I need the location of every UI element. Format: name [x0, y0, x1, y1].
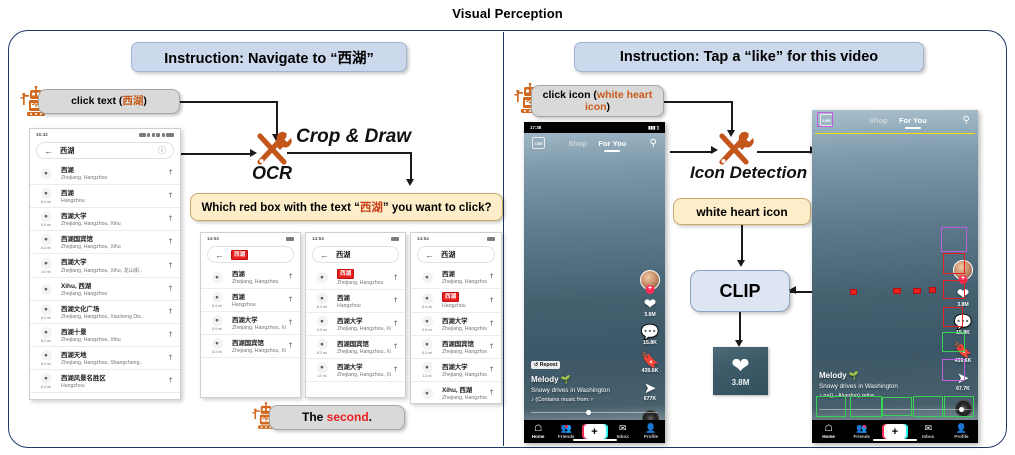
result-pin: ●8.3 mi	[312, 339, 332, 355]
result-distance: 8.3 mi	[422, 351, 432, 355]
map-phone-candidate-3[interactable]: 14:54←西湖●西湖Zhejiang, Hangzhou↗●8.4 mi西湖H…	[410, 232, 502, 404]
rail-count: 439.6K	[955, 358, 972, 364]
status-bar: 14:54	[201, 233, 300, 244]
map-search-input[interactable]: 西湖	[336, 250, 391, 260]
result-title: 西湖	[442, 292, 487, 302]
location-pin-icon: ●	[41, 234, 52, 245]
result-subtitle: Zhejiang, Hangzhou, Xihu, 龙山街..	[61, 267, 166, 274]
status-icons	[487, 237, 495, 241]
map-result-row[interactable]: ●13 mi西湖大学Zhejiang, Hangzhou, Xihu,↗	[411, 359, 501, 382]
avatar[interactable]: +	[640, 270, 660, 290]
username[interactable]: Melody 🌱	[819, 371, 950, 380]
result-subtitle: Zhejiang, Hangzhou	[232, 279, 286, 285]
heart-icon[interactable]: ❤	[957, 287, 970, 302]
map-result-row[interactable]: ●8.2 mi西湖十景Zhejiang, Hangzhou, Xihu↗	[30, 324, 180, 347]
location-pin-icon: ●	[41, 258, 52, 269]
result-pin: ●	[417, 388, 437, 399]
live-icon[interactable]: LIVE	[532, 137, 545, 149]
location-pin-icon: ●	[317, 362, 328, 373]
result-subtitle: Zhejiang, Hangzhou, Xihu	[442, 349, 487, 355]
progress-knob[interactable]	[959, 407, 964, 412]
location-pin-icon: ●	[41, 304, 52, 315]
plus-icon[interactable]: +	[882, 424, 908, 439]
rail-heart[interactable]: ❤3.6M	[644, 297, 657, 318]
figure-root: Visual Perception Instruction: Navigate …	[0, 0, 1015, 455]
navigate-arrow-icon[interactable]: ↗	[389, 341, 400, 352]
tab-for-you[interactable]: For You	[598, 139, 626, 148]
status-bar: 14:54	[306, 233, 405, 244]
comment-icon[interactable]: 💬	[641, 325, 660, 340]
map-result-row[interactable]: ●8.4 mi西湖Hangzhou↗	[411, 289, 501, 313]
detect-line-divider	[815, 133, 975, 135]
map-result-row[interactable]: ●0.9 mi西湖大学Zhejiang, Hangzhou, Xih↗	[201, 312, 300, 335]
map-result-row[interactable]: ●8.4 mi西湖Hangzhou↗	[30, 185, 180, 208]
detect-box-avatar	[941, 227, 967, 252]
result-distance: 0.9 mi	[41, 223, 51, 227]
arrow-head	[789, 286, 796, 294]
rail-count: 67.7K	[956, 386, 970, 392]
result-title: 西湖	[232, 292, 286, 301]
map-search-input[interactable]: 西湖	[60, 146, 158, 156]
map-result-row[interactable]: ●西湖Zhejiang, Hangzhou↗	[306, 266, 405, 290]
map-result-row[interactable]: ●西湖Zhejiang, Hangzhou↗	[201, 266, 300, 289]
status-bar: 14:54	[411, 233, 501, 244]
location-pin-icon: ●	[422, 272, 433, 283]
navigate-arrow-icon[interactable]: ↗	[485, 341, 496, 352]
result-pin: ●0.9 mi	[312, 316, 332, 332]
rail-count: 3.8M	[957, 302, 969, 308]
navigate-arrow-icon[interactable]: ↗	[485, 364, 496, 375]
follow-plus-icon[interactable]: +	[646, 285, 655, 294]
status-time: 14:54	[417, 236, 429, 241]
result-distance: 0.9 mi	[422, 328, 432, 332]
result-pin: ●13 mi	[417, 362, 437, 378]
music-label[interactable]: ♪ (Contains music from: r	[531, 397, 637, 403]
right-agent-action-chip: click icon (white heart icon)	[531, 85, 664, 117]
ocr-question-chip: Which red box with the text “西湖” you wan…	[190, 193, 503, 221]
rail-comment[interactable]: 💬15.8K	[954, 315, 973, 336]
result-distance: 0.9 mi	[317, 328, 327, 332]
status-icons	[286, 237, 294, 241]
left-agent-action-chip: click text (西湖)	[38, 89, 180, 114]
status-time: 17:38	[530, 125, 541, 130]
arrow-left-icon[interactable]: ←	[215, 250, 224, 260]
result-pin: ●13 mi	[36, 258, 56, 274]
nav-label: Inbox	[617, 434, 629, 439]
follow-plus-icon[interactable]: +	[959, 275, 968, 284]
map-result-row[interactable]: ●8.3 mi西湖国宾馆Zhejiang, Hangzhou, Xih↗	[201, 335, 300, 358]
status-time: 14:54	[312, 236, 324, 241]
tiktok-phone-after[interactable]: LIVEShopFor You⚲+❤3.8M💬15.8K🔖439.6K➤67.7…	[812, 110, 978, 443]
map-phone-candidate-1[interactable]: 14:54←西湖●西湖Zhejiang, Hangzhou↗●8.4 mi西湖H…	[200, 232, 301, 398]
result-pin: ●8.9 mi	[36, 350, 56, 366]
tiktok-tabs: ShopFor You	[545, 139, 650, 148]
result-subtitle: Zhejiang, Hangzhou, Xih	[232, 348, 286, 354]
arrow-line	[741, 225, 743, 261]
left-agent-action-text: click text (西湖)	[71, 95, 147, 107]
location-pin-icon: ●	[317, 316, 328, 327]
right-instruction-text: Instruction: Tap a “like” for this video	[620, 49, 878, 65]
navigate-arrow-icon[interactable]: ↗	[284, 294, 295, 305]
navigate-arrow-icon[interactable]: ↗	[164, 236, 175, 247]
result-subtitle: Hangzhou	[442, 303, 487, 309]
share-icon[interactable]: ➤	[957, 371, 970, 386]
location-pin-icon: ●	[422, 388, 433, 399]
tiktok-action-rail: +❤3.8M💬15.8K🔖439.6K➤67.7K	[953, 260, 973, 417]
map-result-row[interactable]: ●8.3 mi西湖国宾馆Zhejiang, Hangzhou, Xihu↗	[30, 231, 180, 254]
nav-label: Inbox	[922, 434, 934, 439]
result-subtitle: Zhejiang, Hangzhou	[61, 291, 166, 297]
map-result-row[interactable]: ●0.9 mi西湖大学Zhejiang, Hangzhou, Xihu↗	[30, 208, 180, 231]
map-result-row[interactable]: ●13 mi西湖大学Zhejiang, Hangzhou, Xihu,↗	[306, 359, 405, 382]
location-pin-icon: ●	[212, 272, 223, 283]
result-pin: ●	[207, 272, 227, 283]
detect-marker-2	[893, 288, 901, 294]
location-pin-icon: ●	[212, 315, 223, 326]
result-subtitle: Zhejiang, Hangzhou, Xiacheng Dis..	[61, 314, 166, 320]
nav-create[interactable]: +	[878, 424, 911, 439]
navigate-arrow-icon[interactable]: ↗	[485, 295, 496, 306]
result-title: 西湖国宾馆	[337, 339, 391, 348]
detect-box-create	[882, 397, 912, 416]
result-subtitle: Zhejiang, Hangzhou, Xihu	[337, 326, 391, 332]
bookmark-icon[interactable]: 🔖	[641, 353, 660, 368]
location-pin-icon: ●	[422, 339, 433, 350]
video-progress-bar[interactable]	[531, 412, 658, 414]
result-subtitle: Hangzhou	[61, 198, 166, 204]
map-result-row[interactable]: ●8.9 mi西湖天地Zhejiang, Hangzhou, Shangchen…	[30, 347, 180, 370]
tiktok-caption: Melody 🌱Snowy drives in Washington♪ na()…	[819, 367, 950, 399]
detect-box-friends	[850, 396, 882, 417]
profile-icon[interactable]: 👤	[645, 424, 656, 433]
left-instruction-text: Instruction: Navigate to “西湖”	[164, 47, 373, 68]
navigate-arrow-icon[interactable]: ↗	[164, 283, 175, 294]
tiktok-top-bar: LIVEShopFor You⚲	[812, 112, 978, 128]
heart-crop-image: ❤ 3.8M	[713, 347, 768, 395]
tab-for-you[interactable]: For You	[899, 116, 927, 125]
result-distance: 13 mi	[41, 270, 50, 274]
navigate-arrow-icon[interactable]: ↗	[164, 306, 175, 317]
share-icon[interactable]: ➤	[644, 381, 657, 396]
map-result-row[interactable]: ●13 mi西湖大学Zhejiang, Hangzhou, Xihu, 龙山街.…	[30, 254, 180, 278]
detect-marker-3	[913, 288, 921, 294]
detect-box-home	[816, 396, 846, 417]
navigate-arrow-icon[interactable]: ↗	[485, 318, 496, 329]
result-title: 西湖国宾馆	[61, 234, 166, 243]
arrow-head	[406, 179, 414, 186]
map-result-row[interactable]: ●8.3 mi西湖国宾馆Zhejiang, Hangzhou, Xihu↗	[411, 336, 501, 359]
location-pin-icon: ●	[212, 338, 223, 349]
answer-text: The second.	[302, 411, 372, 425]
heart-count: 3.8M	[732, 378, 750, 387]
nav-inbox[interactable]: ✉Inbox	[912, 424, 945, 440]
video-description: Snowy drives in Washington	[819, 383, 950, 390]
rail-heart[interactable]: ❤3.8M	[957, 287, 970, 308]
result-pin: ●8.4 mi	[207, 292, 227, 308]
status-time: 14:54	[207, 236, 219, 241]
heart-icon[interactable]: ❤	[644, 297, 657, 312]
location-pin-icon: ●	[41, 284, 52, 295]
tiktok-phone-before[interactable]: 17:38▮▮▮ ▯LIVEShopFor You⚲+❤3.6M💬15.8K🔖4…	[524, 122, 665, 443]
arrow-line	[757, 151, 811, 153]
status-icons: ▮▮▮ ▯	[648, 125, 659, 131]
result-subtitle: Hangzhou	[232, 302, 286, 308]
page-title: Visual Perception	[0, 6, 1015, 21]
left-tool-top-label: Crop & Draw	[296, 126, 411, 148]
search-icon[interactable]: ⚲	[963, 115, 970, 126]
map-result-row[interactable]: ●8.4 mi西湖风景名胜区Hangzhou↗	[30, 370, 180, 393]
rail-count: 439.6K	[642, 368, 659, 374]
tiktok-tabs: ShopFor You	[833, 116, 963, 125]
home-icon[interactable]: ☖	[534, 424, 542, 433]
nav-home[interactable]: ☖Home	[524, 424, 552, 440]
clear-circle-icon[interactable]: ⓘ	[158, 145, 166, 156]
right-instruction-chip: Instruction: Tap a “like” for this video	[574, 42, 924, 72]
map-result-row[interactable]: ●Xihu, 西湖Zhejiang, Hangzhou↗	[30, 278, 180, 301]
result-pin: ●0.9 mi	[417, 316, 437, 332]
plus-icon[interactable]: +	[582, 424, 608, 439]
map-result-row[interactable]: ●8.4 mi西湖Hangzhou↗	[306, 290, 405, 313]
result-distance: 13 mi	[422, 374, 431, 378]
progress-knob[interactable]	[586, 410, 591, 415]
result-distance: 8.4 mi	[41, 385, 51, 389]
detected-label-chip: white heart icon	[673, 198, 811, 225]
navigate-arrow-icon[interactable]: ↗	[485, 387, 496, 398]
result-subtitle: Zhejiang, Hangzhou, Shangcheng..	[61, 360, 166, 366]
result-pin: ●8.2 mi	[36, 327, 56, 343]
rail-share[interactable]: ➤677K	[644, 381, 657, 402]
rail-count: 3.6M	[644, 312, 656, 318]
left-tool-bottom-label: OCR	[252, 163, 292, 184]
location-pin-icon: ●	[41, 168, 52, 179]
map-search-bar[interactable]: ←西湖	[417, 246, 495, 263]
result-distance: 8.9 mi	[41, 362, 51, 366]
rail-count: 15.8K	[643, 340, 657, 346]
rail-bookmark[interactable]: 🔖439.6K	[641, 353, 660, 374]
map-result-row[interactable]: ●8.2 mi西湖文化广场Zhejiang, Hangzhou, Xiachen…	[30, 301, 180, 324]
arrow-left-icon[interactable]: ←	[320, 250, 329, 260]
clip-label: CLIP	[719, 281, 760, 302]
result-distance: 8.3 mi	[317, 351, 327, 355]
map-result-row[interactable]: ●Xihu, 西湖Zhejiang, Hangzhou↗	[411, 382, 501, 404]
navigate-arrow-icon[interactable]: ↗	[284, 317, 295, 328]
result-title: Xihu, 西湖	[61, 281, 166, 290]
heart-icon: ❤	[731, 355, 749, 377]
result-pin: ●8.4 mi	[312, 293, 332, 309]
status-time: 15:42	[36, 132, 48, 137]
result-title: 西湖大学	[442, 362, 487, 371]
tiktok-caption: ↺ RepostMelody 🌱Snowy drives in Washingt…	[531, 353, 637, 403]
video-progress-bar[interactable]	[819, 409, 971, 411]
inbox-icon[interactable]: ✉	[619, 424, 627, 433]
result-subtitle: Zhejiang, Hangzhou, Xihu	[337, 349, 391, 355]
result-distance: 8.4 mi	[317, 305, 327, 309]
panel-divider	[503, 32, 504, 446]
navigate-arrow-icon[interactable]: ↗	[389, 364, 400, 375]
result-subtitle: Zhejiang, Hangzhou	[61, 175, 166, 181]
map-result-row[interactable]: ●0.9 mi西湖大学Zhejiang, Hangzhou, Xihu↗	[306, 313, 405, 336]
location-pin-icon: ●	[422, 293, 433, 304]
navigate-arrow-icon[interactable]: ↗	[164, 375, 175, 386]
map-result-row[interactable]: ●8.4 mi西湖Hangzhou↗	[201, 289, 300, 312]
result-subtitle: Zhejiang, Hangzhou, Xihu,	[442, 372, 487, 378]
rail-comment[interactable]: 💬15.8K	[641, 325, 660, 346]
ocr-question-text: Which red box with the text “西湖” you wan…	[201, 199, 491, 215]
map-search-input[interactable]: 西湖	[441, 250, 487, 260]
result-subtitle: Hangzhou	[61, 383, 166, 389]
result-subtitle: Zhejiang, Hangzhou, Xihu	[61, 221, 166, 227]
location-pin-icon: ●	[41, 350, 52, 361]
result-subtitle: Zhejiang, Hangzhou, Xihu	[442, 326, 487, 332]
map-search-bar[interactable]: ←西湖	[312, 246, 399, 263]
clip-box: CLIP	[690, 270, 790, 312]
navigate-arrow-icon[interactable]: ↗	[485, 271, 496, 282]
map-result-row[interactable]: ●8.3 mi西湖国宾馆Zhejiang, Hangzhou, Xihu↗	[306, 336, 405, 359]
tab-shop[interactable]: Shop	[568, 139, 587, 148]
result-title: 西湖大学	[232, 315, 286, 324]
arrow-left-icon[interactable]: ←	[425, 250, 434, 260]
result-title: 西湖	[337, 269, 391, 279]
arrow-left-icon[interactable]: ←	[44, 146, 53, 156]
detected-label-text: white heart icon	[696, 205, 787, 219]
navigate-arrow-icon[interactable]: ↗	[389, 295, 400, 306]
result-distance: 13 mi	[317, 374, 326, 378]
map-result-row[interactable]: ●0.9 mi西湖大学Zhejiang, Hangzhou, Xihu↗	[411, 313, 501, 336]
result-distance: 8.3 mi	[41, 246, 51, 250]
repost-badge[interactable]: ↺ Repost	[531, 361, 560, 369]
result-subtitle: Zhejiang, Hangzhou	[442, 279, 487, 285]
map-result-list: ●西湖Zhejiang, Hangzhou↗●8.4 mi西湖Hangzhou↗…	[30, 162, 180, 393]
username[interactable]: Melody 🌱	[531, 375, 637, 384]
live-icon[interactable]: LIVE	[820, 114, 833, 126]
result-pin: ●	[417, 272, 437, 283]
location-pin-icon: ●	[317, 293, 328, 304]
nav-friends[interactable]: 👥Friends	[845, 424, 878, 440]
result-title: 西湖	[337, 293, 391, 302]
video-description: Snowy drives in Washington	[531, 387, 637, 394]
result-pin: ●8.3 mi	[36, 234, 56, 250]
tab-shop[interactable]: Shop	[869, 116, 888, 125]
result-subtitle: Zhejiang, Hangzhou, Xihu	[61, 337, 166, 343]
location-pin-icon: ●	[422, 316, 433, 327]
navigate-arrow-icon[interactable]: ↗	[164, 167, 175, 178]
map-search-input[interactable]: 西湖	[231, 249, 286, 260]
result-title: 西湖大学	[337, 316, 391, 325]
location-pin-icon: ●	[422, 362, 433, 373]
left-instruction-chip: Instruction: Navigate to “西湖”	[131, 42, 407, 72]
result-subtitle: Zhejiang, Hangzhou	[442, 395, 487, 401]
navigate-arrow-icon[interactable]: ↗	[389, 272, 400, 283]
tiktok-top-bar: LIVEShopFor You⚲	[524, 135, 665, 151]
result-distance: 8.3 mi	[212, 350, 222, 354]
arrow-line	[287, 152, 411, 154]
result-distance: 8.4 mi	[41, 200, 51, 204]
map-result-row[interactable]: ●西湖Zhejiang, Hangzhou↗	[411, 266, 501, 289]
location-pin-icon: ●	[317, 272, 328, 283]
nav-inbox[interactable]: ✉Inbox	[609, 424, 637, 440]
map-search-bar[interactable]: ←西湖	[207, 246, 294, 263]
result-title: 西湖大学	[442, 316, 487, 325]
status-bar: 15:42	[30, 129, 180, 140]
search-icon[interactable]: ⚲	[650, 138, 657, 149]
navigate-arrow-icon[interactable]: ↗	[164, 213, 175, 224]
result-title: 西湖大学	[337, 362, 391, 371]
nav-profile[interactable]: 👤Profile	[945, 424, 978, 440]
nav-home[interactable]: ☖Home	[812, 424, 845, 440]
result-distance: 8.2 mi	[41, 316, 51, 320]
result-pin: ●13 mi	[312, 362, 332, 378]
right-tool-label: Icon Detection	[690, 163, 807, 183]
nav-friends[interactable]: 👥Friends	[552, 424, 580, 440]
map-result-row[interactable]: ●西湖Zhejiang, Hangzhou↗	[30, 162, 180, 185]
result-subtitle: Zhejiang, Hangzhou, Xih	[232, 325, 286, 331]
map-phone-candidate-2[interactable]: 14:54←西湖●西湖Zhejiang, Hangzhou↗●8.4 mi西湖H…	[305, 232, 406, 398]
navigate-arrow-icon[interactable]: ↗	[284, 340, 295, 351]
result-title: 西湖十景	[61, 327, 166, 336]
result-title: 西湖文化广场	[61, 304, 166, 313]
status-bar: 17:38▮▮▮ ▯	[524, 122, 665, 133]
result-subtitle: Hangzhou	[337, 303, 391, 309]
result-title: 西湖	[232, 269, 286, 278]
home-icon[interactable]: ☖	[825, 424, 833, 433]
result-pin: ●8.2 mi	[36, 304, 56, 320]
rail-share[interactable]: ➤67.7K	[956, 371, 970, 392]
bookmark-icon[interactable]: 🔖	[954, 343, 973, 358]
result-title: 西湖	[61, 165, 166, 174]
detect-marker-4	[929, 287, 936, 293]
rail-bookmark[interactable]: 🔖439.6K	[954, 343, 973, 364]
detect-box-inbox	[913, 396, 943, 417]
map-search-bar[interactable]: ← 西湖 ⓘ	[36, 142, 174, 159]
nav-label: Profile	[644, 434, 658, 439]
answer-chip: The second.	[269, 405, 405, 430]
status-icons	[139, 133, 175, 137]
navigate-arrow-icon[interactable]: ↗	[164, 352, 175, 363]
arrow-line	[670, 151, 712, 153]
result-title: 西湖大学	[61, 257, 166, 266]
right-agent-action-text: click icon (white heart icon)	[532, 89, 663, 113]
map-phone-source[interactable]: 15:42 ← 西湖 ⓘ ●西湖Zhejiang, Hangzhou↗●8.4 …	[29, 128, 181, 400]
result-title: 西湖风景名胜区	[61, 373, 166, 382]
tiktok-action-rail: +❤3.6M💬15.8K🔖439.6K➤677K	[640, 270, 660, 427]
navigate-arrow-icon[interactable]: ↗	[164, 190, 175, 201]
location-pin-icon: ●	[41, 188, 52, 199]
result-distance: 8.4 mi	[422, 305, 432, 309]
status-icons	[391, 237, 399, 241]
inbox-icon[interactable]: ✉	[924, 424, 932, 433]
navigate-arrow-icon[interactable]: ↗	[164, 260, 175, 271]
comment-icon[interactable]: 💬	[954, 315, 973, 330]
result-subtitle: Zhejiang, Hangzhou, Xihu	[61, 244, 166, 250]
result-pin: ●0.9 mi	[36, 211, 56, 227]
result-pin: ●	[312, 272, 332, 283]
result-pin: ●	[36, 284, 56, 295]
profile-icon[interactable]: 👤	[956, 424, 967, 433]
result-pin: ●8.3 mi	[207, 338, 227, 354]
home-indicator	[573, 439, 617, 441]
navigate-arrow-icon[interactable]: ↗	[164, 329, 175, 340]
location-pin-icon: ●	[41, 211, 52, 222]
result-pin: ●0.9 mi	[207, 315, 227, 331]
detect-marker-1	[850, 289, 857, 295]
nav-create[interactable]: +	[580, 424, 608, 439]
navigate-arrow-icon[interactable]: ↗	[389, 318, 400, 329]
nav-profile[interactable]: 👤Profile	[637, 424, 665, 440]
result-pin: ●8.4 mi	[36, 188, 56, 204]
navigate-arrow-icon[interactable]: ↗	[284, 271, 295, 282]
avatar[interactable]: +	[953, 260, 973, 280]
music-label[interactable]: ♪ na() - Alvedon) retire	[819, 393, 950, 399]
